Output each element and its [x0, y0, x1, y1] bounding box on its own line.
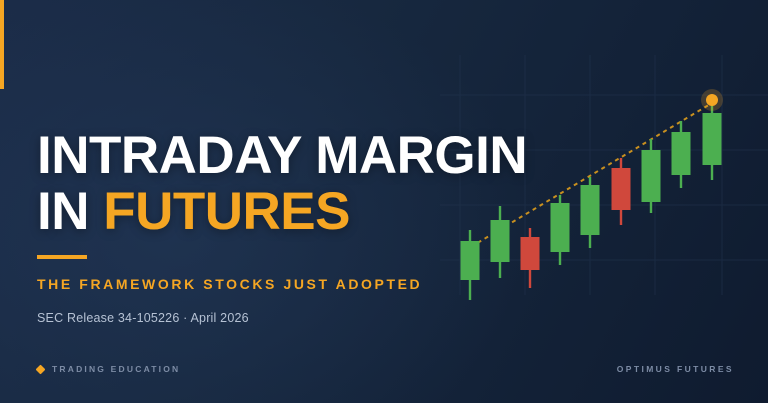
presentation-slide: INTRADAY MARGIN IN FUTURES THE FRAMEWORK…	[0, 0, 768, 403]
title-line-2-accent: FUTURES	[103, 182, 350, 241]
subtitle: THE FRAMEWORK STOCKS JUST ADOPTED	[37, 276, 422, 292]
page-title: INTRADAY MARGIN IN FUTURES	[37, 128, 527, 240]
end-point-marker	[706, 94, 718, 106]
brand-label: OPTIMUS FUTURES	[617, 364, 734, 374]
candle-body	[672, 132, 691, 175]
candle-body	[461, 241, 480, 280]
candle-body	[642, 150, 661, 202]
footer-left-group: TRADING EDUCATION	[37, 364, 180, 374]
candle-body	[551, 203, 570, 252]
title-line-2: IN FUTURES	[37, 184, 527, 240]
release-metadata: SEC Release 34-105226 · April 2026	[37, 311, 249, 325]
left-accent-bar	[0, 0, 4, 89]
diamond-icon	[36, 364, 46, 374]
candle-body	[612, 168, 631, 210]
candle-body	[703, 113, 722, 165]
footer-category-label: TRADING EDUCATION	[52, 364, 180, 374]
candle-body	[521, 237, 540, 270]
title-divider	[37, 255, 87, 259]
title-line-2-plain: IN	[37, 182, 103, 241]
candle-body	[581, 185, 600, 235]
title-line-1: INTRADAY MARGIN	[37, 126, 527, 185]
